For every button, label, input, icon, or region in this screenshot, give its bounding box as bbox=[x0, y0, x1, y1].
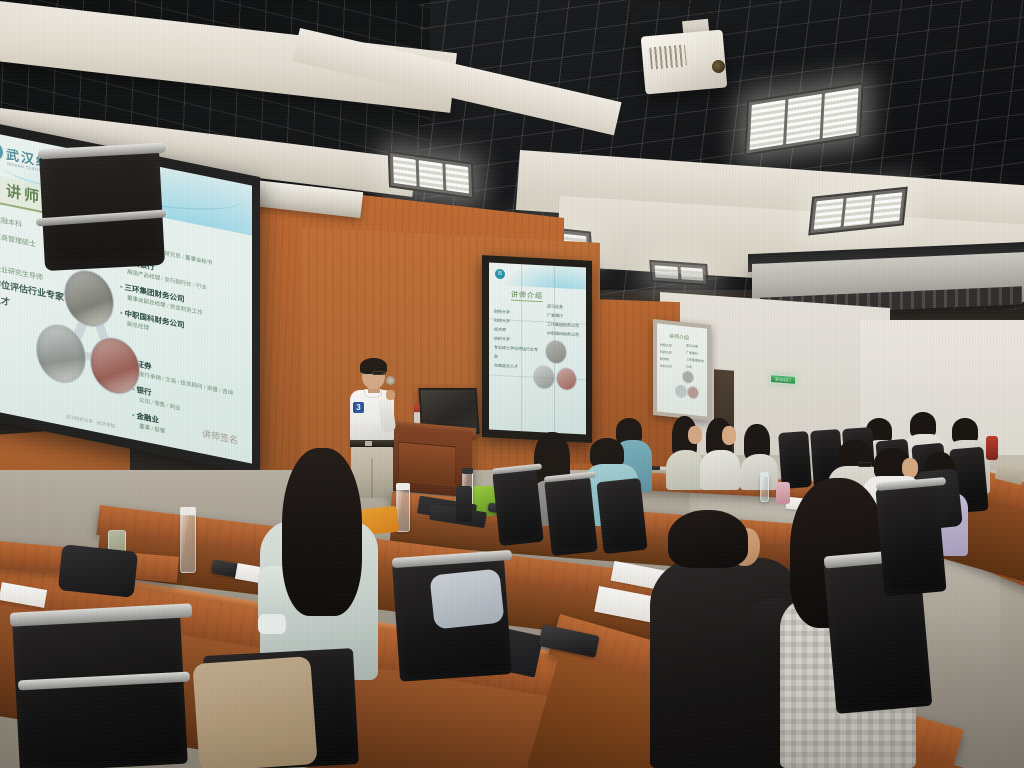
chair[interactable] bbox=[39, 147, 165, 271]
presenter-belt-buckle bbox=[365, 441, 372, 446]
lecture-hall-photo: B 武汉纺织大学 WUHAN TEXTILE UNIVERSITY 讲师介绍 财… bbox=[0, 0, 1024, 768]
water-bottle bbox=[760, 476, 769, 502]
presenter-hand bbox=[386, 390, 395, 400]
slide-right-column: 武汉证券 广发银行 三环集团财务公司 中职国科财务公司 bbox=[547, 301, 585, 339]
fluorescent-tube bbox=[823, 88, 859, 138]
slide-title: 讲师介绍 bbox=[669, 333, 689, 342]
backpack bbox=[58, 544, 138, 598]
eyeglasses-icon bbox=[372, 371, 386, 375]
student-cuff bbox=[258, 614, 286, 634]
chair[interactable] bbox=[875, 484, 946, 597]
presenter-belt bbox=[350, 440, 394, 447]
fluorescent-tube bbox=[786, 94, 822, 144]
venn-photo-circle bbox=[90, 333, 140, 399]
slide-footer: 武汉纺织大学 · 经济学院 bbox=[66, 414, 115, 430]
slide-venn-diagram bbox=[533, 339, 577, 393]
eyeglasses-icon bbox=[858, 462, 872, 467]
fluorescent-tube bbox=[843, 195, 873, 226]
student-tshirt bbox=[650, 558, 800, 768]
foreground-student-left bbox=[258, 448, 388, 678]
fluorescent-tube bbox=[749, 100, 785, 150]
emergency-exit-sign-label: 安全出口 bbox=[772, 375, 794, 384]
student-torso bbox=[700, 450, 740, 490]
bottle-cap bbox=[760, 472, 769, 477]
water-bottle bbox=[180, 513, 196, 573]
fluorescent-tube bbox=[655, 265, 678, 279]
bottle-cap bbox=[180, 507, 196, 515]
video-wall-display: B 讲师介绍 财经大学 科技大学 经济师 纺织大学 专业硕士学位评估行业专家 市… bbox=[489, 262, 586, 434]
red-thermos bbox=[986, 436, 998, 460]
university-logo-icon: B bbox=[495, 269, 505, 280]
student-jeans bbox=[429, 568, 504, 629]
student-back bbox=[700, 418, 742, 484]
venn-photo-circle bbox=[556, 367, 577, 391]
fluorescent-tube bbox=[680, 267, 703, 281]
fluorescent-tube bbox=[419, 160, 443, 190]
dark-thermos bbox=[456, 486, 472, 522]
ceiling-light-fixture bbox=[649, 260, 708, 286]
projector-vent-icon bbox=[649, 44, 687, 69]
chair[interactable] bbox=[492, 468, 543, 546]
slide-right-column: 武汉证券 广发银行 三环集团财务公司 bbox=[686, 342, 706, 372]
microphone-head-icon bbox=[386, 376, 395, 385]
water-bottle bbox=[414, 404, 420, 424]
student-hair bbox=[668, 510, 748, 568]
slide-venn-diagram bbox=[675, 369, 699, 402]
slide-venn-diagram bbox=[36, 260, 140, 403]
bottle-cap bbox=[462, 468, 473, 474]
fluorescent-tube bbox=[393, 157, 417, 187]
tumbler-lid bbox=[108, 524, 126, 533]
bottle-cap bbox=[396, 483, 410, 490]
venn-photo-circle bbox=[533, 365, 555, 390]
slide-wave-decoration bbox=[500, 262, 586, 289]
chair[interactable] bbox=[544, 476, 598, 556]
venn-photo-circle bbox=[64, 265, 114, 331]
fluorescent-tube bbox=[814, 198, 844, 229]
student-face bbox=[722, 426, 736, 445]
slide-title: 讲师介绍 bbox=[511, 290, 543, 303]
chair[interactable] bbox=[12, 614, 188, 768]
presenter-shirt-logo: 3 bbox=[353, 402, 364, 413]
student-torso bbox=[666, 450, 704, 490]
wall-monitor-display: 讲师介绍 财经大学 科技大学 经济师 纺织大学 武汉证券 广发银行 三环集团财务… bbox=[657, 323, 707, 416]
slide-left-column: 财经大学 科技大学 经济师 纺织大学 专业硕士学位评估行业专家 市高层次人才 bbox=[494, 307, 538, 372]
venn-photo-circle bbox=[675, 384, 687, 398]
venn-photo-circle bbox=[687, 386, 699, 400]
student-hair bbox=[282, 448, 362, 616]
fluorescent-tube bbox=[445, 164, 469, 194]
venn-photo-circle bbox=[682, 370, 694, 384]
slide-left-column: 财经大学 科技大学 经济师 纺织大学 bbox=[660, 342, 682, 372]
student-trousers bbox=[192, 656, 317, 768]
venn-photo-circle bbox=[545, 339, 567, 364]
student-torso bbox=[740, 454, 778, 490]
fluorescent-tube bbox=[873, 192, 903, 223]
